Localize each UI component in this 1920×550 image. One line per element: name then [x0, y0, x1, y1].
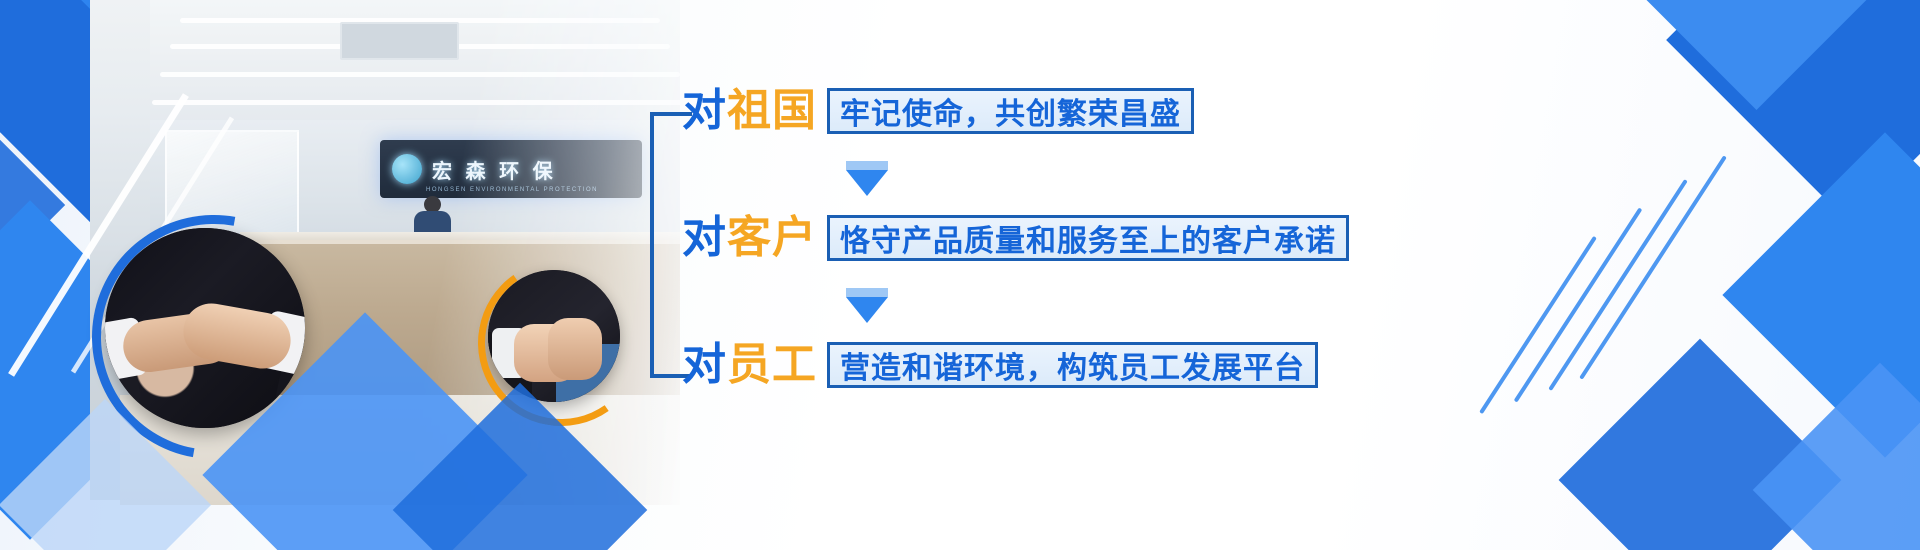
decor-diamond-left-mid	[0, 85, 65, 325]
row-employee-subject: 员工	[727, 343, 817, 387]
slogan-row-customer: 对 客户 恪守产品质量和服务至上的客户承诺	[682, 215, 1349, 261]
row-country-prefix: 对	[682, 89, 727, 133]
slogan-row-country: 对 祖国 牢记使命，共创繁荣昌盛	[682, 88, 1194, 134]
handshake-photo	[105, 228, 305, 428]
decor-line-4	[1579, 155, 1727, 379]
ceiling-light	[160, 72, 680, 77]
decor-diamond-right-mid	[1722, 132, 1920, 457]
company-sign-subtext: HONGSEN ENVIRONMENTAL PROTECTION	[426, 187, 598, 193]
company-sign: 宏 森 环 保 HONGSEN ENVIRONMENTAL PROTECTION	[380, 140, 642, 198]
row-customer-subject: 客户	[727, 216, 817, 260]
slogan-block: 对 祖国 牢记使命，共创繁荣昌盛 对 客户 恪守产品质量和服务至上的客户承诺 对…	[650, 66, 1350, 396]
decor-diamond-right-bottom2	[1753, 363, 1920, 550]
down-arrow-icon-cap-1	[846, 161, 888, 170]
ceiling-duct	[340, 22, 459, 60]
applause-photo	[488, 270, 620, 402]
decor-diamond-right-top	[1666, 0, 1920, 224]
company-logo-icon	[392, 154, 422, 184]
row-customer-statement: 恪守产品质量和服务至上的客户承诺	[827, 215, 1349, 261]
down-arrow-icon-cap-2	[846, 288, 888, 297]
row-customer-prefix: 对	[682, 216, 727, 260]
row-employee-statement: 营造和谐环境，构筑员工发展平台	[827, 342, 1318, 388]
decor-diamond-right-top2	[1615, 0, 1905, 110]
ceiling-light	[152, 100, 680, 105]
down-arrow-icon-1	[846, 170, 888, 196]
row-employee-prefix: 对	[682, 343, 727, 387]
decor-diamond-right-bottom	[1559, 339, 1842, 550]
down-arrow-icon-2	[846, 297, 888, 323]
decor-line-3	[1479, 236, 1597, 414]
decor-line-2	[1514, 207, 1643, 402]
clapping-hand-right	[548, 318, 602, 380]
row-country-statement: 牢记使命，共创繁荣昌盛	[827, 88, 1194, 134]
promo-banner: 宏 森 环 保 HONGSEN ENVIRONMENTAL PROTECTION	[0, 0, 1920, 550]
decor-line-1	[1548, 179, 1688, 391]
row-country-subject: 祖国	[727, 89, 817, 133]
slogan-row-employee: 对 员工 营造和谐环境，构筑员工发展平台	[682, 342, 1318, 388]
company-sign-text: 宏 森 环 保	[432, 155, 557, 184]
